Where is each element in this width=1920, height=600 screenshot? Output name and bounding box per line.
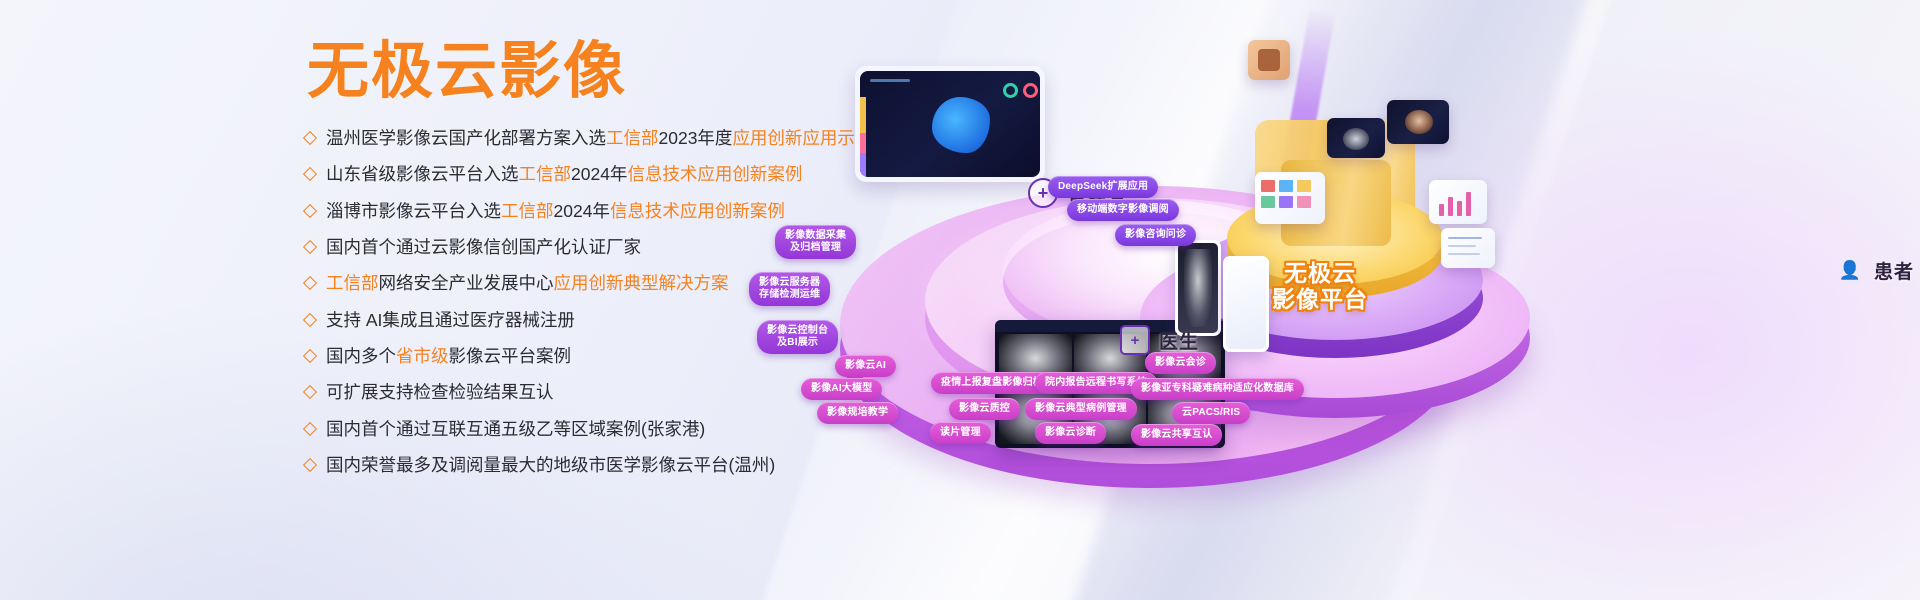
role-doctor[interactable]: + 医生 (1120, 325, 1199, 355)
pill-image-cloud-qc[interactable]: 影像云质控 (949, 398, 1020, 420)
pill-typical-case-management[interactable]: 影像云典型病例管理 (1025, 398, 1137, 420)
text-segment: 应用创新典型解决方案 (554, 273, 729, 293)
pill-image-cloud-ai[interactable]: 影像云AI (835, 355, 896, 377)
role-patient[interactable]: 👤 患者 (1835, 255, 1914, 285)
dashboard-tablet (855, 66, 1045, 182)
pill-image-cloud-consultation[interactable]: 影像云会诊 (1145, 352, 1216, 374)
pill-reading-management[interactable]: 读片管理 (930, 422, 991, 444)
core-platform-label-line2: 影像平台 (1235, 288, 1405, 314)
pill-line-1: 影像云服务器 (759, 277, 820, 289)
pill-image-cloud-diagnosis[interactable]: 影像云诊断 (1035, 422, 1106, 444)
ui-thumb-form (1441, 228, 1495, 268)
diamond-icon (303, 167, 317, 181)
text-segment: 国内首个通过云影像信创国产化认证厂家 (326, 237, 641, 257)
text-segment: 山东省级影像云平台入选 (326, 164, 519, 184)
pill-line-2: 及BI展示 (767, 337, 828, 349)
text-segment: 影像云平台案例 (449, 346, 572, 366)
pill-image-cloud-sharing[interactable]: 影像云共享互认 (1131, 424, 1222, 446)
pill-line-2: 存储检测运维 (759, 289, 820, 301)
feature-list-item-text: 国内多个省市级影像云平台案例 (326, 342, 571, 370)
pill-image-cloud-console-bi[interactable]: 影像云控制台 及BI展示 (757, 320, 838, 354)
scan-thumb-2 (1387, 100, 1449, 144)
ui-thumb-grid (1255, 172, 1325, 224)
text-segment: 省市级 (396, 346, 449, 366)
role-doctor-label: 医生 (1159, 327, 1199, 354)
pill-image-cloud-server-ops[interactable]: 影像云服务器 存储检测运维 (749, 272, 830, 306)
text-segment: 工信部 (501, 201, 554, 221)
ui-thumb-chart (1429, 180, 1487, 224)
text-segment: 温州医学影像云国产化部署方案入选 (326, 128, 606, 148)
feature-list-item-text: 国内荣誉最多及调阅量最大的地级市医学影像云平台(温州) (326, 451, 775, 479)
feature-list-item-text: 淄博市影像云平台入选工信部2024年信息技术应用创新案例 (326, 197, 785, 225)
text-segment: 国内首个通过互联互通五级乙等区域案例(张家港) (326, 419, 705, 439)
pill-image-training-education[interactable]: 影像规培教学 (817, 402, 898, 424)
feature-list-item-text: 国内首个通过云影像信创国产化认证厂家 (326, 233, 641, 261)
pill-deepseek-extension[interactable]: DeepSeek扩展应用 (1048, 176, 1158, 198)
feature-list-item-text: 工信部网络安全产业发展中心应用创新典型解决方案 (326, 269, 729, 297)
scan-thumb-3 (1248, 40, 1290, 80)
text-segment: 国内多个 (326, 346, 396, 366)
text-segment: 工信部 (519, 164, 572, 184)
pill-image-data-capture[interactable]: 影像数据采集 及归档管理 (775, 225, 856, 259)
diamond-icon (303, 349, 317, 363)
text-segment: 网络安全产业发展中心 (379, 273, 554, 293)
text-segment: 工信部 (326, 273, 379, 293)
text-segment: 可扩展支持检查检验结果互认 (326, 382, 554, 402)
pill-line-1: 影像数据采集 (785, 230, 846, 242)
diamond-icon (303, 385, 317, 399)
scan-thumb-1 (1327, 118, 1385, 158)
pill-image-ai-large-model[interactable]: 影像AI大模型 (801, 378, 882, 400)
platform-illustration: + 管理者 + 医生 👤 患者 无极云 影像平台 影像数据采集 及归档管理 影像… (735, 0, 1920, 600)
text-segment: 2023年度 (659, 128, 733, 148)
text-segment: 支持 AI集成且通过医疗器械注册 (326, 310, 575, 330)
feature-list-item-text: 山东省级影像云平台入选工信部2024年信息技术应用创新案例 (326, 160, 802, 188)
text-segment: 工信部 (606, 128, 659, 148)
diamond-icon (303, 240, 317, 254)
text-segment: 淄博市影像云平台入选 (326, 201, 501, 221)
patient-phone-xray (1175, 240, 1221, 336)
diamond-icon (303, 422, 317, 436)
diamond-icon (303, 131, 317, 145)
pill-image-consultation[interactable]: 影像咨询问诊 (1115, 224, 1196, 246)
pill-line-2: 及归档管理 (785, 242, 846, 254)
diamond-icon (303, 313, 317, 327)
text-segment: 2024年 (554, 201, 610, 221)
pill-line-1: 影像云控制台 (767, 325, 828, 337)
core-platform-label: 无极云 影像平台 (1235, 262, 1405, 314)
pill-subspecialty-database[interactable]: 影像亚专科疑难病种适应化数据库 (1131, 378, 1304, 400)
text-segment: 国内荣誉最多及调阅量最大的地级市医学影像云平台(温州) (326, 455, 775, 475)
feature-list-item-text: 可扩展支持检查检验结果互认 (326, 378, 554, 406)
doctor-card-icon: + (1120, 325, 1150, 355)
text-segment: 2024年 (571, 164, 627, 184)
core-platform-label-line1: 无极云 (1235, 262, 1405, 288)
diamond-icon (303, 276, 317, 290)
pill-cloud-pacs-ris[interactable]: 云PACS/RIS (1172, 402, 1250, 424)
role-patient-label: 患者 (1874, 257, 1914, 284)
banner-root: 无极云影像 温州医学影像云国产化部署方案入选工信部2023年度应用创新应用示范案… (0, 0, 1920, 600)
feature-list-item-text: 支持 AI集成且通过医疗器械注册 (326, 306, 575, 334)
diamond-icon (303, 458, 317, 472)
feature-list-item-text: 国内首个通过互联互通五级乙等区域案例(张家港) (326, 415, 705, 443)
diamond-icon (303, 204, 317, 218)
person-icon: 👤 (1835, 255, 1865, 285)
pill-mobile-image-access[interactable]: 移动端数字影像调阅 (1067, 199, 1179, 221)
